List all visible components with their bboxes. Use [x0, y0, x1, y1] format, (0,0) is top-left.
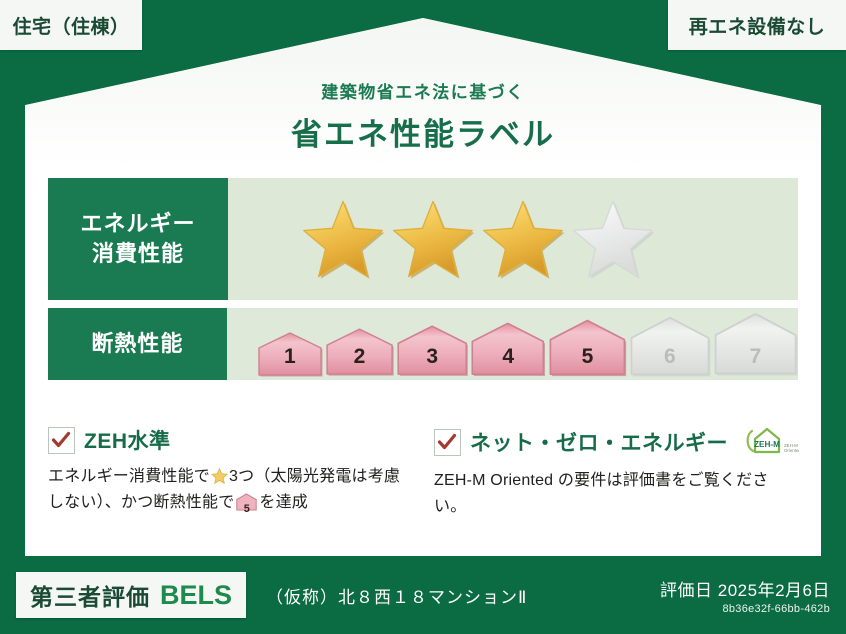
- check-icon: [437, 432, 457, 452]
- zeh-standard-heading: ZEH水準: [48, 425, 414, 455]
- building-name: （仮称）北８西１８マンションⅡ: [266, 583, 527, 608]
- insulation-badge-3: 3: [396, 324, 468, 376]
- zeh-standard-body: エネルギー消費性能で3つ（太陽光発電は考慮しない）、かつ断熱性能で5を達成: [48, 464, 414, 520]
- insulation-badge-scale: 1234567: [227, 311, 798, 376]
- label-title-block: 建築物省エネ法に基づく 省エネ性能ラベル: [0, 78, 846, 154]
- insulation-badge-2: 2: [325, 327, 394, 376]
- zeh-standard-checkbox[interactable]: [48, 427, 75, 454]
- star-icon-filled: [480, 198, 566, 280]
- net-zero-energy-title: ネット・ゼロ・エネルギー: [470, 427, 728, 457]
- insulation-badge-number: 2: [325, 345, 394, 369]
- insulation-badge-number: 5: [548, 345, 627, 369]
- insulation-badge-number: 1: [257, 345, 323, 369]
- zeh-m-oriented-logo: ZEH-M ZEH-M Oriented: [743, 425, 799, 459]
- energy-label-line2: 消費性能: [92, 241, 184, 266]
- bels-logo-text: BELS: [160, 580, 232, 611]
- insulation-badge-number: 4: [470, 345, 546, 369]
- star-rating: [228, 198, 656, 280]
- evaluation-date: 評価日 2025年2月6日: [660, 576, 830, 601]
- insulation-badge-4: 4: [470, 321, 546, 377]
- zeh-m-logo-text: ZEH-M: [754, 440, 780, 449]
- evaluation-id: 8b36e32f-66bb-462b: [660, 603, 830, 615]
- zeh-m-logo-sub2: Oriented: [784, 448, 799, 453]
- energy-performance-label: エネルギー 消費性能: [48, 178, 228, 300]
- label-subtitle: 建築物省エネ法に基づく: [0, 78, 846, 103]
- renewable-equipment-tag: 再エネ設備なし: [668, 0, 846, 50]
- evaluation-info: 評価日 2025年2月6日 8b36e32f-66bb-462b: [660, 576, 830, 615]
- zeh-body-part1: エネルギー消費性能で: [48, 468, 210, 485]
- metrics-container: エネルギー 消費性能 断熱性能 1234567: [48, 178, 798, 388]
- net-zero-energy-column: ネット・ゼロ・エネルギー ZEH-M ZEH-M Oriented ZEH-M …: [434, 425, 800, 520]
- net-zero-energy-body: ZEH-M Oriented の要件は評価書をご覧ください。: [434, 468, 800, 520]
- label-title: 省エネ性能ラベル: [0, 109, 846, 154]
- insulation-performance-label: 断熱性能: [48, 308, 227, 380]
- check-icon: [51, 430, 71, 450]
- zeh-section: ZEH水準 エネルギー消費性能で3つ（太陽光発電は考慮しない）、かつ断熱性能で5…: [48, 425, 800, 520]
- footer-bar: 第三者評価 BELS （仮称）北８西１８マンションⅡ 評価日 2025年2月6日…: [0, 556, 846, 634]
- bels-badge: 第三者評価 BELS: [16, 572, 246, 618]
- insulation-badge-5: 5: [548, 318, 627, 377]
- insulation-performance-row: 断熱性能 1234567: [48, 308, 798, 380]
- bels-japanese-label: 第三者評価: [30, 578, 150, 612]
- insulation-badge-number: 6: [629, 345, 711, 369]
- insulation-performance-value: 1234567: [227, 308, 798, 380]
- net-zero-energy-checkbox[interactable]: [434, 429, 461, 456]
- star-icon-filled: [390, 198, 476, 280]
- insulation-badge-6: 6: [629, 315, 711, 377]
- net-zero-energy-heading: ネット・ゼロ・エネルギー ZEH-M ZEH-M Oriented: [434, 425, 800, 459]
- energy-performance-value: [228, 178, 798, 300]
- renewable-equipment-tag-label: 再エネ設備なし: [689, 12, 826, 39]
- zeh-m-house-icon: ZEH-M ZEH-M Oriented: [743, 425, 799, 459]
- building-type-tag: 住宅（住棟）: [0, 0, 142, 50]
- energy-performance-row: エネルギー 消費性能: [48, 178, 798, 300]
- inline-insulation-badge: 5: [236, 493, 257, 520]
- energy-performance-label: 住宅（住棟） 再エネ設備なし 建築物省エネ法に基づく 省エネ性能ラベル エネルギ…: [0, 0, 846, 634]
- building-type-tag-label: 住宅（住棟）: [12, 12, 129, 39]
- zeh-standard-title: ZEH水準: [84, 425, 171, 455]
- insulation-badge-7: 7: [713, 311, 798, 376]
- star-icon-empty: [570, 198, 656, 280]
- star-icon-filled: [300, 198, 386, 280]
- inline-star-icon: [211, 468, 228, 484]
- insulation-badge-1: 1: [257, 331, 323, 377]
- insulation-badge-number: 3: [396, 345, 468, 369]
- inline-badge-number: 5: [236, 501, 257, 519]
- zeh-standard-column: ZEH水準 エネルギー消費性能で3つ（太陽光発電は考慮しない）、かつ断熱性能で5…: [48, 425, 414, 520]
- energy-label-line1: エネルギー: [80, 211, 195, 236]
- zeh-body-part3: を達成: [259, 494, 308, 511]
- insulation-badge-number: 7: [713, 345, 798, 369]
- insulation-label-text: 断熱性能: [91, 329, 183, 359]
